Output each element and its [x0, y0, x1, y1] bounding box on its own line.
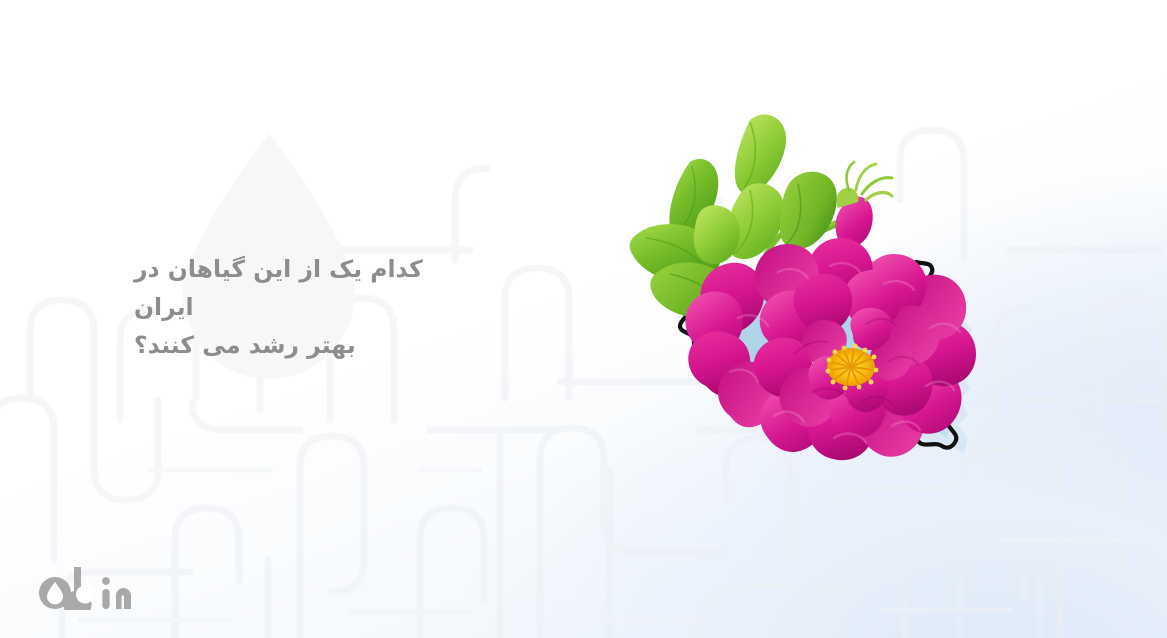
headline-line-2: بهتر رشد می کنند؟	[134, 331, 356, 359]
abin-logo[interactable]: abin	[38, 566, 136, 610]
page-title: کدام یک از این گیاهان در ایران بهتر رشد …	[134, 250, 464, 364]
iran-map-with-rose-illustration	[598, 86, 1018, 506]
headline-line-1: کدام یک از این گیاهان در ایران	[134, 255, 423, 321]
slide-canvas: کدام یک از این گیاهان در ایران بهتر رشد …	[0, 0, 1167, 638]
rose-leaf-top	[735, 114, 786, 194]
rose-leaf-upper-right	[780, 172, 837, 249]
rose-bud	[835, 162, 892, 247]
